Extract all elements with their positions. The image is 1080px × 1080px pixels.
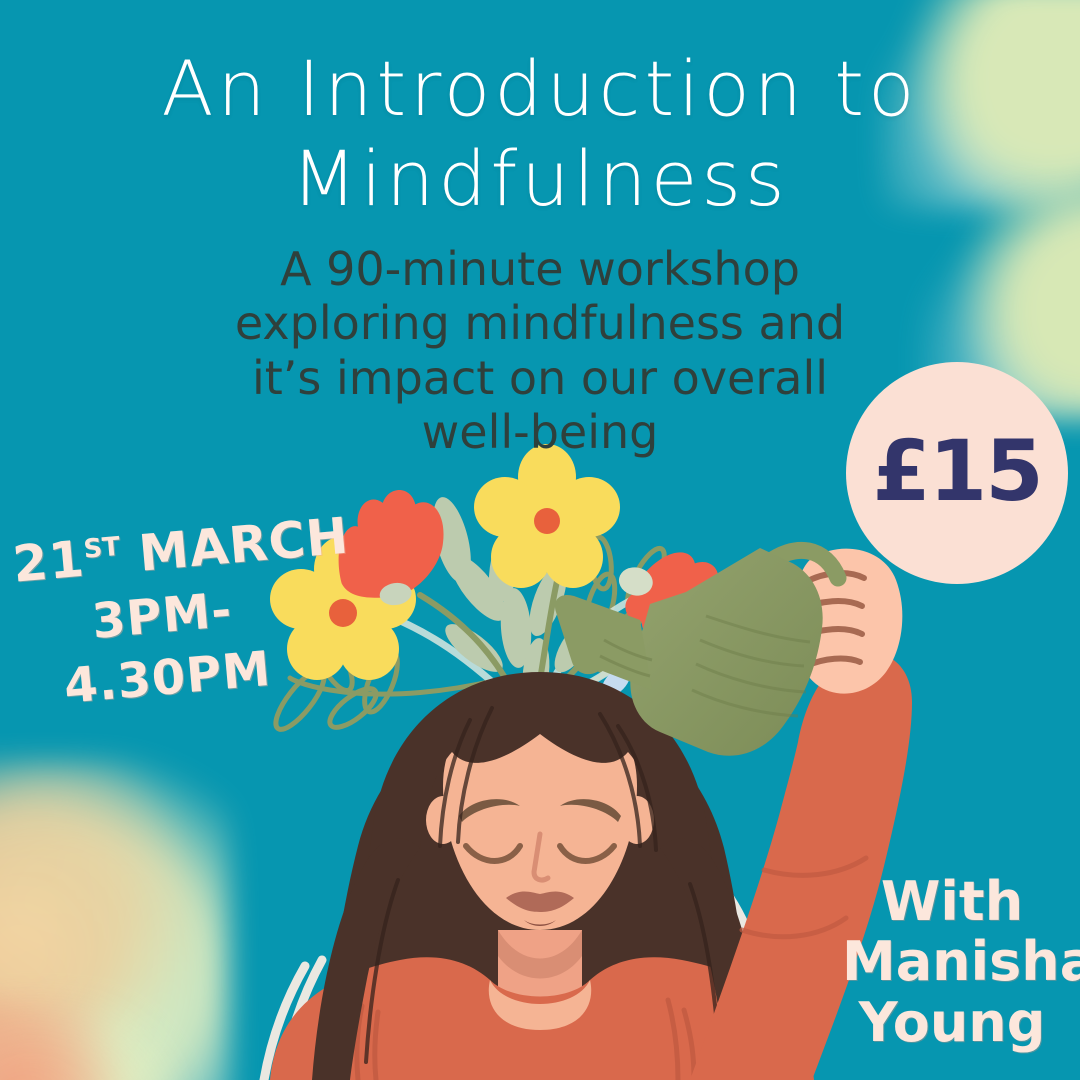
- price-amount: £15: [872, 422, 1041, 520]
- price-badge: £15: [846, 362, 1068, 584]
- schedule-day-suffix: ST: [82, 532, 121, 565]
- subtitle-line-3: it’s impact on our overall: [110, 351, 970, 405]
- presenter-name: With Manisha Young: [842, 872, 1062, 1053]
- schedule-day-number: 21: [11, 530, 87, 594]
- poster-canvas: An Introduction to Mindfulness A 90-minu…: [0, 0, 1080, 1080]
- page-title: An Introduction to Mindfulness: [0, 44, 1080, 223]
- presenter-line-3: Young: [842, 993, 1062, 1053]
- presenter-line-1: With: [842, 872, 1062, 932]
- yellow-flower-top: [474, 444, 620, 588]
- event-schedule: 21ST MARCH 3PM- 4.30PM: [14, 508, 309, 721]
- subtitle-line-4: well-being: [110, 405, 970, 459]
- subtitle-line-1: A 90-minute workshop: [110, 242, 970, 296]
- presenter-line-2: Manisha: [842, 932, 1062, 992]
- title-line-2: Mindfulness: [0, 134, 1080, 224]
- subtitle: A 90-minute workshop exploring mindfulne…: [110, 242, 970, 459]
- subtitle-line-2: exploring mindfulness and: [110, 296, 970, 350]
- title-line-1: An Introduction to: [0, 44, 1080, 134]
